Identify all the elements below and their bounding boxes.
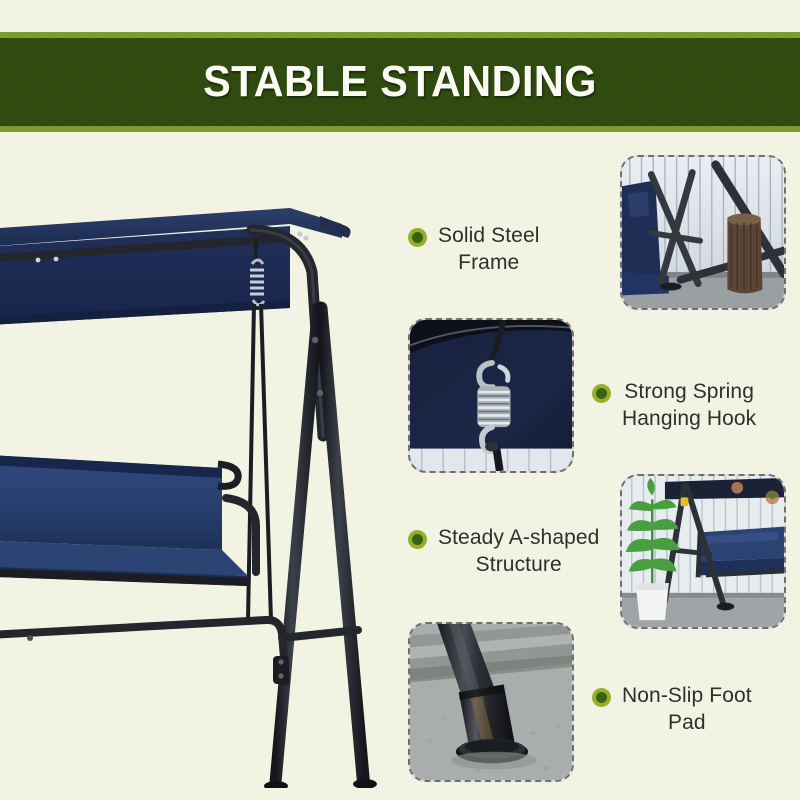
feature-label-text: Non-Slip Foot Pad bbox=[622, 682, 752, 736]
bullet-icon bbox=[408, 530, 427, 549]
product-image bbox=[0, 168, 390, 788]
header-banner: STABLE STANDING bbox=[0, 32, 800, 132]
feature-label-steady-a-shaped-structure: Steady A-shaped Structure bbox=[408, 524, 616, 578]
page-title: STABLE STANDING bbox=[24, 38, 776, 126]
feature-label-non-slip-foot-pad: Non-Slip Foot Pad bbox=[592, 682, 792, 736]
feature-label-solid-steel-frame: Solid Steel Frame bbox=[408, 222, 598, 276]
infographic-page: STABLE STANDING bbox=[0, 0, 800, 800]
feature-label-strong-spring-hanging-hook: Strong Spring Hanging Hook bbox=[592, 378, 798, 432]
feature-label-text: Solid Steel Frame bbox=[438, 222, 540, 276]
feature-thumbnail-solid-steel-frame[interactable] bbox=[620, 155, 786, 310]
bullet-icon bbox=[592, 384, 611, 403]
feature-label-text: Steady A-shaped Structure bbox=[438, 524, 599, 578]
feature-thumbnail-strong-spring-hanging-hook[interactable] bbox=[408, 318, 574, 473]
feature-thumbnail-steady-a-shaped-structure[interactable] bbox=[620, 474, 786, 629]
bullet-icon bbox=[592, 688, 611, 707]
feature-label-text: Strong Spring Hanging Hook bbox=[622, 378, 756, 432]
bullet-icon bbox=[408, 228, 427, 247]
feature-thumbnail-non-slip-foot-pad[interactable] bbox=[408, 622, 574, 782]
